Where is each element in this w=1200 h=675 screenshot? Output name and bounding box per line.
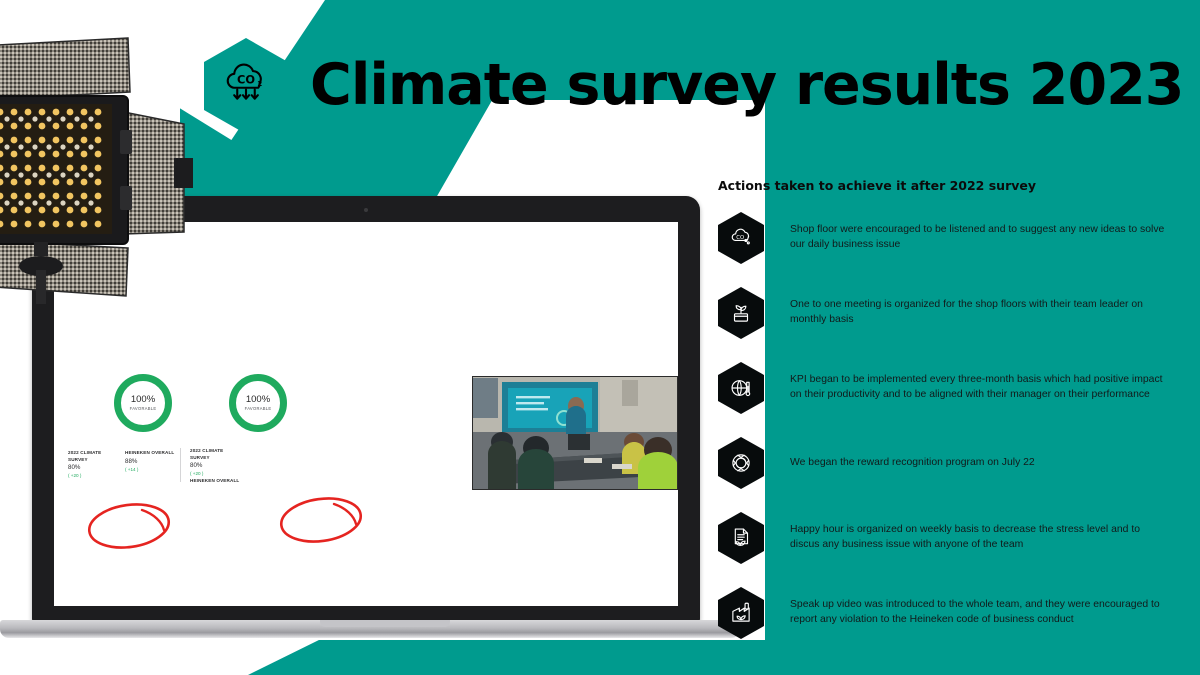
stat-block-left-a: 2022 CLIMATE SURVEY 80% ( +20 )	[68, 450, 118, 480]
stat-left-a-delta: ( +20 )	[68, 473, 118, 480]
action-item[interactable]: Happy hour is organized on weekly basis …	[718, 507, 1178, 569]
svg-text:2: 2	[257, 80, 262, 88]
action-item[interactable]: CO Shop floor were encouraged to be list…	[718, 207, 1178, 269]
donut-2-percent: 100%	[246, 395, 270, 405]
stat-right-a-delta: ( +20 )	[190, 471, 244, 478]
stat-divider	[180, 448, 181, 482]
stat-right-a-head: 2022 CLIMATE SURVEY	[190, 448, 244, 461]
stat-block-right-b: HEINEKEN OVERALL	[190, 478, 244, 485]
recycle-globe-icon	[728, 450, 754, 476]
stat-left-b-value: 88%	[125, 458, 175, 467]
laptop-base-notch	[320, 620, 450, 627]
action-text: One to one meeting is organized for the …	[790, 298, 1170, 328]
donut-2-label: FAVORABLE	[245, 406, 272, 411]
stat-left-b-head: HEINEKEN OVERALL	[125, 450, 175, 457]
studio-light-photo	[0, 34, 193, 304]
actions-panel: Actions taken to achieve it after 2022 s…	[718, 178, 1178, 657]
action-icon-hexagon-1: CO	[718, 212, 764, 264]
action-item[interactable]: Speak up video was introduced to the who…	[718, 582, 1178, 644]
stat-right-a-value: 80%	[190, 462, 244, 471]
globe-thermometer-icon	[728, 375, 754, 401]
meeting-room-photo	[472, 376, 678, 490]
svg-text:CO: CO	[237, 72, 255, 86]
stat-block-left-b: HEINEKEN OVERALL 88% ( +14 )	[125, 450, 175, 473]
donut-chart-1: 100% FAVORABLE	[114, 374, 172, 432]
red-annotation-circle-2	[276, 494, 366, 546]
potted-plant-icon	[728, 300, 754, 326]
stat-left-a-value: 80%	[68, 464, 118, 473]
action-text: KPI began to be implemented every three-…	[790, 373, 1170, 403]
factory-leaf-icon	[728, 600, 754, 626]
action-item[interactable]: We began the reward recognition program …	[718, 432, 1178, 494]
stat-left-a-head: 2022 CLIMATE SURVEY	[68, 450, 118, 463]
action-icon-hexagon-3	[718, 362, 764, 414]
action-item[interactable]: KPI began to be implemented every three-…	[718, 357, 1178, 419]
stat-left-b-delta: ( +14 )	[125, 467, 175, 474]
action-item[interactable]: One to one meeting is organized for the …	[718, 282, 1178, 344]
action-text: Happy hour is organized on weekly basis …	[790, 523, 1170, 553]
donut-1-percent: 100%	[131, 395, 155, 405]
action-text: We began the reward recognition program …	[790, 456, 1035, 471]
action-icon-hexagon-4	[718, 437, 764, 489]
action-text: Speak up video was introduced to the who…	[790, 598, 1170, 628]
stat-block-right-a: 2022 CLIMATE SURVEY 80% ( +20 )	[190, 448, 244, 478]
page-title: Climate survey results 2023	[310, 52, 1183, 118]
document-leaf-icon	[728, 525, 754, 551]
action-text: Shop floor were encouraged to be listene…	[790, 223, 1170, 253]
red-annotation-circle-1	[84, 500, 174, 552]
laptop-webcam-icon	[364, 208, 368, 212]
donut-1-label: FAVORABLE	[130, 406, 157, 411]
svg-text:CO: CO	[736, 235, 744, 241]
action-icon-hexagon-2	[718, 287, 764, 339]
co2-cloud-icon: CO	[728, 225, 754, 251]
action-icon-hexagon-6	[718, 587, 764, 639]
action-icon-hexagon-5	[718, 512, 764, 564]
co2-cloud-icon: CO 2	[218, 58, 274, 114]
donut-chart-2: 100% FAVORABLE	[229, 374, 287, 432]
meeting-room-photo-image	[472, 376, 678, 490]
actions-heading: Actions taken to achieve it after 2022 s…	[718, 178, 1178, 193]
stat-right-b-head: HEINEKEN OVERALL	[190, 478, 244, 485]
